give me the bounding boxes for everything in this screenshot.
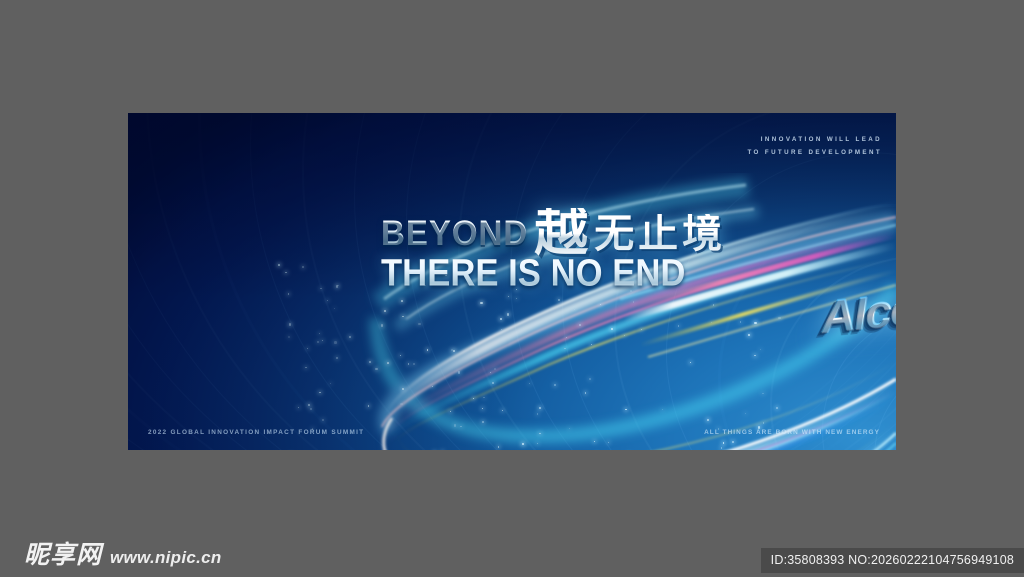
- sparkle-dot: [381, 324, 384, 327]
- sparkle-dot: [641, 329, 642, 330]
- sparkle-dot: [302, 266, 304, 268]
- sparkle-dot: [387, 362, 389, 364]
- sparkle-dot: [564, 348, 565, 349]
- sparkle-dot: [408, 363, 410, 365]
- sparkle-dot: [624, 335, 625, 336]
- sparkle-dot: [501, 329, 502, 330]
- banner-tagline: INNOVATION WILL LEAD TO FUTURE DEVELOPME…: [747, 133, 882, 159]
- tagline-line-2: TO FUTURE DEVELOPMENT: [747, 146, 882, 159]
- sparkle-dot: [322, 340, 323, 341]
- sparkle-dot: [413, 363, 415, 365]
- sparkle-dot: [566, 337, 568, 339]
- sparkle-dot: [334, 341, 337, 344]
- sparkle-dot: [289, 323, 291, 325]
- sparkle-dot: [483, 397, 484, 398]
- sparkle-dot: [418, 323, 420, 325]
- banner-artwork: BEYOND 越 无止境 THERE IS NO END AIcen INNOV…: [128, 113, 896, 450]
- sparkle-dot: [707, 419, 709, 421]
- sparkle-dot: [473, 398, 474, 399]
- sparkle-dot: [594, 441, 595, 442]
- sparkle-dot: [319, 333, 320, 334]
- page-root: BEYOND 越 无止境 THERE IS NO END AIcen INNOV…: [0, 0, 1024, 577]
- sparkle-dot: [529, 383, 530, 384]
- sparkle-dot: [723, 442, 725, 444]
- sparkle-dot: [502, 410, 503, 411]
- sparkle-dot: [490, 372, 491, 373]
- sparkle-dot: [713, 304, 714, 305]
- sparkle-dot: [539, 433, 541, 435]
- sparkle-dot: [589, 378, 591, 380]
- sparkle-dot: [480, 302, 482, 304]
- sparkle-dot: [460, 426, 461, 427]
- sparkle-dot: [507, 313, 509, 315]
- sparkle-dot: [320, 288, 321, 289]
- sparkle-dot: [317, 341, 318, 342]
- brand-logo-cn: 昵享网: [24, 535, 102, 571]
- sparkle-dot: [384, 310, 386, 312]
- sparkle-dot: [453, 350, 456, 353]
- sparkle-dot: [400, 403, 403, 406]
- sparkle-dot: [662, 409, 663, 410]
- sparkle-dot: [310, 408, 312, 410]
- headline-subtitle: THERE IS NO END: [381, 251, 809, 295]
- sparkle-dot: [427, 349, 429, 351]
- sparkle-dot: [285, 272, 286, 273]
- sparkle-dot: [337, 285, 339, 287]
- sparkle-dot: [375, 368, 377, 370]
- sparkle-dot: [748, 334, 750, 336]
- sparkle-dot: [494, 368, 496, 370]
- banner-footer-right: ALL THINGS ARE BORN WITH NEW ENERGY: [704, 429, 880, 436]
- sparkle-dot: [349, 336, 351, 338]
- sparkle-dot: [569, 428, 570, 429]
- headline-block: BEYOND 越 无止境 THERE IS NO END: [381, 208, 801, 293]
- sparkle-dot: [608, 442, 609, 443]
- sparkle-dot: [579, 324, 581, 326]
- sparkle-dot: [401, 300, 403, 302]
- id-badge: ID:35808393 NO:20260222104756949108: [761, 548, 1024, 573]
- sparkle-dot: [368, 405, 369, 406]
- aicen-logo-text: AIcen: [818, 278, 896, 343]
- sparkle-dot: [539, 407, 541, 409]
- headline-chinese-rest: 无止境: [594, 214, 726, 254]
- sparkle-dot: [336, 357, 337, 358]
- headline-line-one: BEYOND 越 无止境: [381, 208, 801, 252]
- sparkle-dot: [458, 371, 461, 374]
- sparkle-dot: [298, 407, 299, 408]
- brand-url: www.nipic.cn: [110, 548, 222, 568]
- sparkle-dot: [522, 443, 524, 445]
- sparkle-dot: [451, 349, 453, 351]
- sparkle-dot: [482, 421, 484, 423]
- headline-beyond: BEYOND: [381, 212, 528, 253]
- sparkle-dot: [516, 298, 517, 299]
- site-brand: 昵享网 www.nipic.cn: [24, 535, 222, 571]
- sparkle-dot: [778, 317, 781, 320]
- sparkle-dot: [690, 362, 691, 363]
- sparkle-dot: [625, 409, 627, 411]
- sparkle-dot: [754, 355, 756, 357]
- sparkle-dot: [369, 361, 371, 363]
- sparkle-dot: [334, 308, 335, 309]
- sparkle-dot: [763, 422, 765, 424]
- sparkle-dot: [760, 349, 761, 350]
- sparkle-dot: [745, 413, 746, 414]
- site-footer: 昵享网 www.nipic.cn ID:35808393 NO:20260222…: [0, 525, 1024, 577]
- sparkle-dot: [678, 325, 680, 327]
- sparkle-dot: [711, 322, 712, 323]
- sparkle-dot: [450, 411, 451, 412]
- sparkle-dot: [762, 393, 764, 395]
- sparkle-dot: [402, 316, 404, 318]
- sparkle-dot: [336, 285, 338, 287]
- sparkle-dot: [740, 321, 741, 322]
- sparkle-dot: [732, 441, 734, 443]
- aicen-logo: AIcen: [818, 277, 896, 344]
- sparkle-dot: [400, 355, 401, 356]
- sparkle-dot: [611, 328, 613, 330]
- sparkle-dot: [574, 309, 575, 310]
- sparkle-dot: [432, 386, 433, 387]
- sparkle-dot: [308, 404, 310, 406]
- sparkle-dot: [305, 367, 307, 369]
- banner-footer-left: 2022 GLOBAL INNOVATION IMPACT FORUM SUMM…: [148, 429, 364, 436]
- sparkle-dot: [754, 322, 756, 324]
- sparkle-dot: [508, 296, 509, 297]
- sparkle-dot: [498, 446, 499, 447]
- sparkle-dot: [537, 413, 538, 414]
- sparkle-dot: [327, 300, 328, 301]
- headline-chinese-big: 越: [534, 208, 588, 257]
- sparkle-dot: [776, 407, 778, 409]
- sparkle-dot: [288, 293, 290, 295]
- tagline-line-1: INNOVATION WILL LEAD: [747, 133, 882, 146]
- sparkle-dot: [633, 301, 634, 302]
- sparkle-dot: [537, 443, 538, 444]
- sparkle-dot: [585, 392, 587, 394]
- sparkle-dot: [322, 419, 324, 421]
- sparkle-dot: [600, 304, 601, 305]
- sparkle-dot: [558, 299, 559, 300]
- sparkle-dot: [591, 344, 592, 345]
- sparkle-dot: [554, 384, 556, 386]
- sparkle-dot: [492, 382, 494, 384]
- sparkle-dot: [278, 264, 280, 266]
- sparkle-dot: [330, 383, 331, 384]
- sparkle-dot: [319, 392, 321, 394]
- sparkle-dot: [721, 447, 723, 449]
- sparkle-dot: [402, 388, 404, 390]
- sparkle-dot: [500, 318, 502, 320]
- arc-ring: [874, 360, 896, 450]
- sparkle-dot: [288, 336, 290, 338]
- sparkle-dot: [482, 408, 483, 409]
- sparkle-dot: [307, 348, 308, 349]
- sparkle-dot: [454, 424, 456, 426]
